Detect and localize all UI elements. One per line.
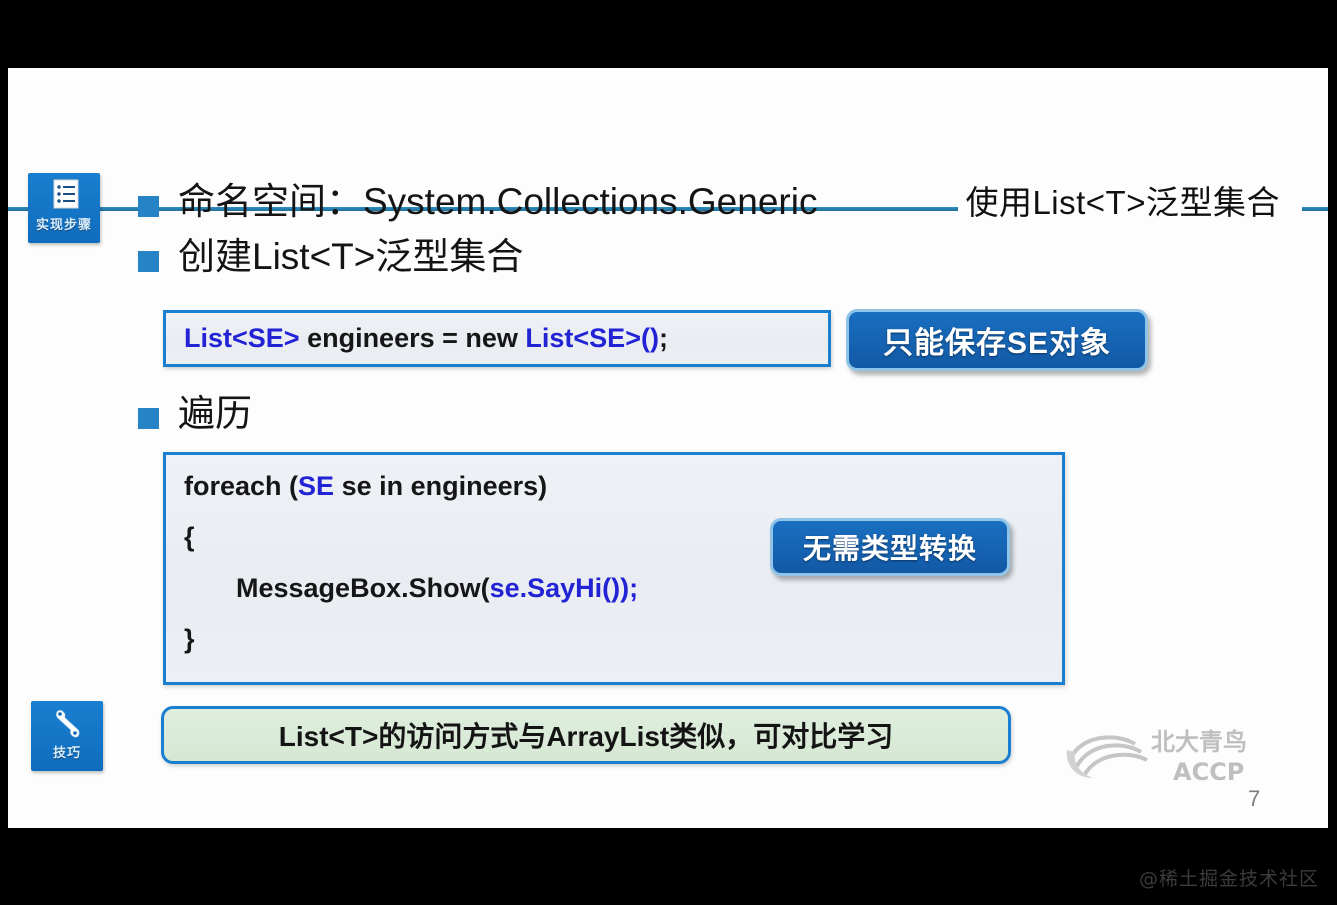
document-list-icon (47, 179, 81, 211)
code-token-type: List<SE> (184, 323, 300, 353)
callout-only-store-se: 只能保存SE对象 (846, 309, 1148, 371)
code-token-messagebox: MessageBox.Show( (236, 573, 490, 603)
code-token-ctor: List<SE>() (525, 323, 659, 353)
code-declaration-line: List<SE> engineers = new List<SE>(); (184, 323, 668, 354)
code-token-sayhi: se.SayHi() (490, 573, 621, 603)
code-token-semicolon: ; (659, 323, 668, 353)
code-token-foreach: foreach ( (184, 471, 298, 501)
badge-implementation-steps: 实现步骤 (28, 173, 100, 243)
code-token-iter: se in engineers) (334, 471, 547, 501)
bullet-square-icon (138, 408, 159, 429)
tip-box: List<T>的访问方式与ArrayList类似，可对比学习 (161, 706, 1011, 764)
callout-no-cast-needed: 无需类型转换 (770, 518, 1010, 576)
code-line-messagebox: MessageBox.Show(se.SayHi()); (184, 575, 1062, 602)
bullet-square-icon (138, 196, 159, 217)
code-line-foreach: foreach (SE se in engineers) (184, 473, 1062, 500)
code-token-type-se: SE (298, 471, 334, 501)
slide-canvas: 使用List<T>泛型集合 实现步骤 (8, 68, 1328, 828)
tip-text: List<T>的访问方式与ArrayList类似，可对比学习 (279, 715, 894, 755)
badge-label-steps: 实现步骤 (36, 214, 92, 233)
page-number: 7 (1248, 786, 1260, 812)
code-line-close-brace: } (184, 626, 1062, 653)
site-watermark: @稀土掘金技术社区 (1139, 864, 1319, 891)
callout-label: 只能保存SE对象 (883, 318, 1111, 362)
code-token-assign: engineers = new (300, 323, 526, 353)
bullet-item-namespace: 命名空间：System.Collections.Generic (138, 181, 817, 222)
bullet-text: 创建List<T>泛型集合 (178, 236, 523, 277)
bullet-text: 遍历 (178, 393, 252, 434)
bullet-text: 命名空间：System.Collections.Generic (178, 181, 817, 222)
bullet-square-icon (138, 251, 159, 272)
badge-label-tip: 技巧 (53, 742, 81, 761)
code-box-declaration: List<SE> engineers = new List<SE>(); (163, 310, 831, 367)
bullet-item-traverse: 遍历 (138, 393, 252, 434)
page-title: 使用List<T>泛型集合 (965, 176, 1280, 224)
title-rule-right (1302, 207, 1328, 211)
bullet-item-create-list: 创建List<T>泛型集合 (138, 236, 523, 277)
callout-label: 无需类型转换 (803, 527, 977, 567)
svg-text:ACCP: ACCP (1173, 758, 1244, 786)
screen-root: 使用List<T>泛型集合 实现步骤 (0, 0, 1337, 905)
wrench-icon (49, 707, 85, 739)
code-token-close: ); (620, 573, 638, 603)
badge-tip: 技巧 (31, 701, 103, 771)
svg-text:北大青鸟: 北大青鸟 (1151, 728, 1247, 756)
